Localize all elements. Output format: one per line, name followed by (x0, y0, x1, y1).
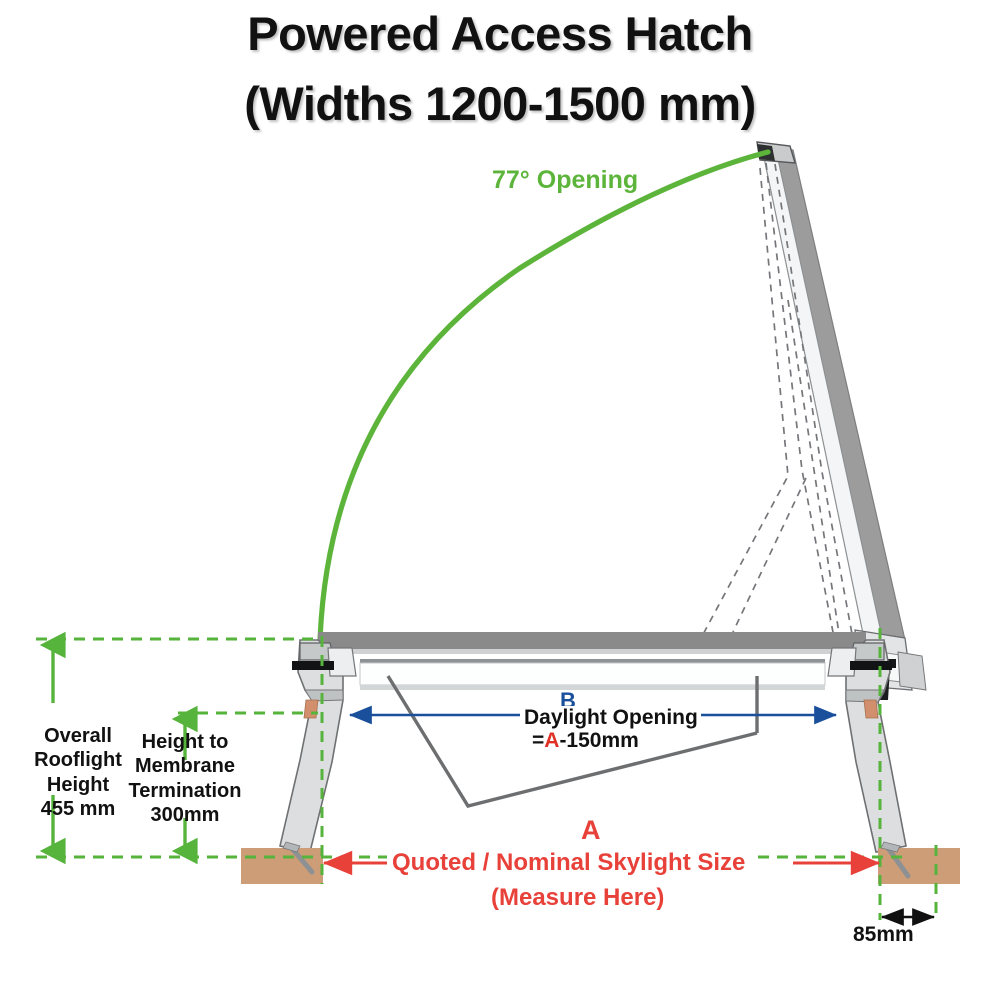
glazing-edge-light (318, 649, 866, 654)
daylight-opening-label: Daylight Opening (521, 706, 701, 731)
measure-here-label: (Measure Here) (491, 884, 664, 912)
overall-height-line-1: Overall (18, 724, 138, 748)
glazing-inner-line-bot (360, 685, 825, 690)
formula-suffix: -150mm (559, 729, 638, 752)
opening-arc (320, 152, 768, 640)
glazing-inner-pane (360, 663, 825, 685)
membrane-height-line-3: Termination (124, 779, 246, 803)
left-kerb-upstand (241, 640, 356, 884)
diagram-canvas: Powered Access Hatch (Widths 1200-1500 m… (0, 0, 1000, 1000)
formula-prefix: = (532, 729, 544, 752)
overall-height-line-3: Height (18, 773, 138, 797)
left-fixing-bolt (292, 661, 334, 670)
daylight-opening-formula: =A-150mm (532, 729, 639, 754)
glazing-panel (318, 632, 866, 690)
left-membrane-termination (304, 700, 318, 718)
membrane-height-line-4: 300mm (124, 803, 246, 827)
opening-angle-label: 77° Opening (492, 166, 638, 196)
left-timber-block (241, 848, 323, 884)
membrane-height-line-2: Membrane (124, 754, 246, 778)
lid-inner-face (762, 148, 884, 648)
page-title-line2: (Widths 1200-1500 mm) (0, 76, 1000, 131)
membrane-termination-height-label: Height to Membrane Termination 300mm (124, 730, 246, 828)
left-kerb-shoulder (305, 690, 343, 701)
opened-lid-assembly (700, 142, 926, 700)
quoted-nominal-size-label: Quoted / Nominal Skylight Size (387, 849, 750, 877)
overall-height-line-4: 455 mm (18, 797, 138, 821)
right-membrane-termination (864, 700, 878, 718)
overall-rooflight-height-label: Overall Rooflight Height 455 mm (18, 724, 138, 822)
page-title-line1: Powered Access Hatch (0, 6, 1000, 61)
quoted-dimension-letter: A (581, 815, 601, 847)
flange-width-label: 85mm (853, 923, 914, 948)
formula-letter-a: A (544, 729, 559, 752)
glazing-top-band (318, 632, 866, 649)
membrane-height-line-1: Height to (124, 730, 246, 754)
overall-height-line-2: Rooflight (18, 748, 138, 772)
right-fixing-bolt (850, 661, 892, 670)
